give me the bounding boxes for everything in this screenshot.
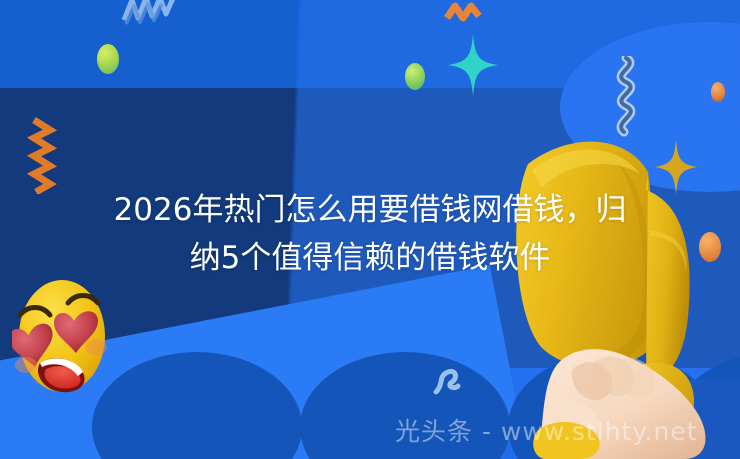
watermark: 光头条 - www.stlhty.net <box>395 412 698 448</box>
banner-image: 2026年热门怎么用要借钱网借钱，归 纳5个值得信赖的借钱软件 光头条 - ww… <box>0 0 740 459</box>
page-title: 2026年热门怎么用要借钱网借钱，归 纳5个值得信赖的借钱软件 <box>0 186 740 282</box>
